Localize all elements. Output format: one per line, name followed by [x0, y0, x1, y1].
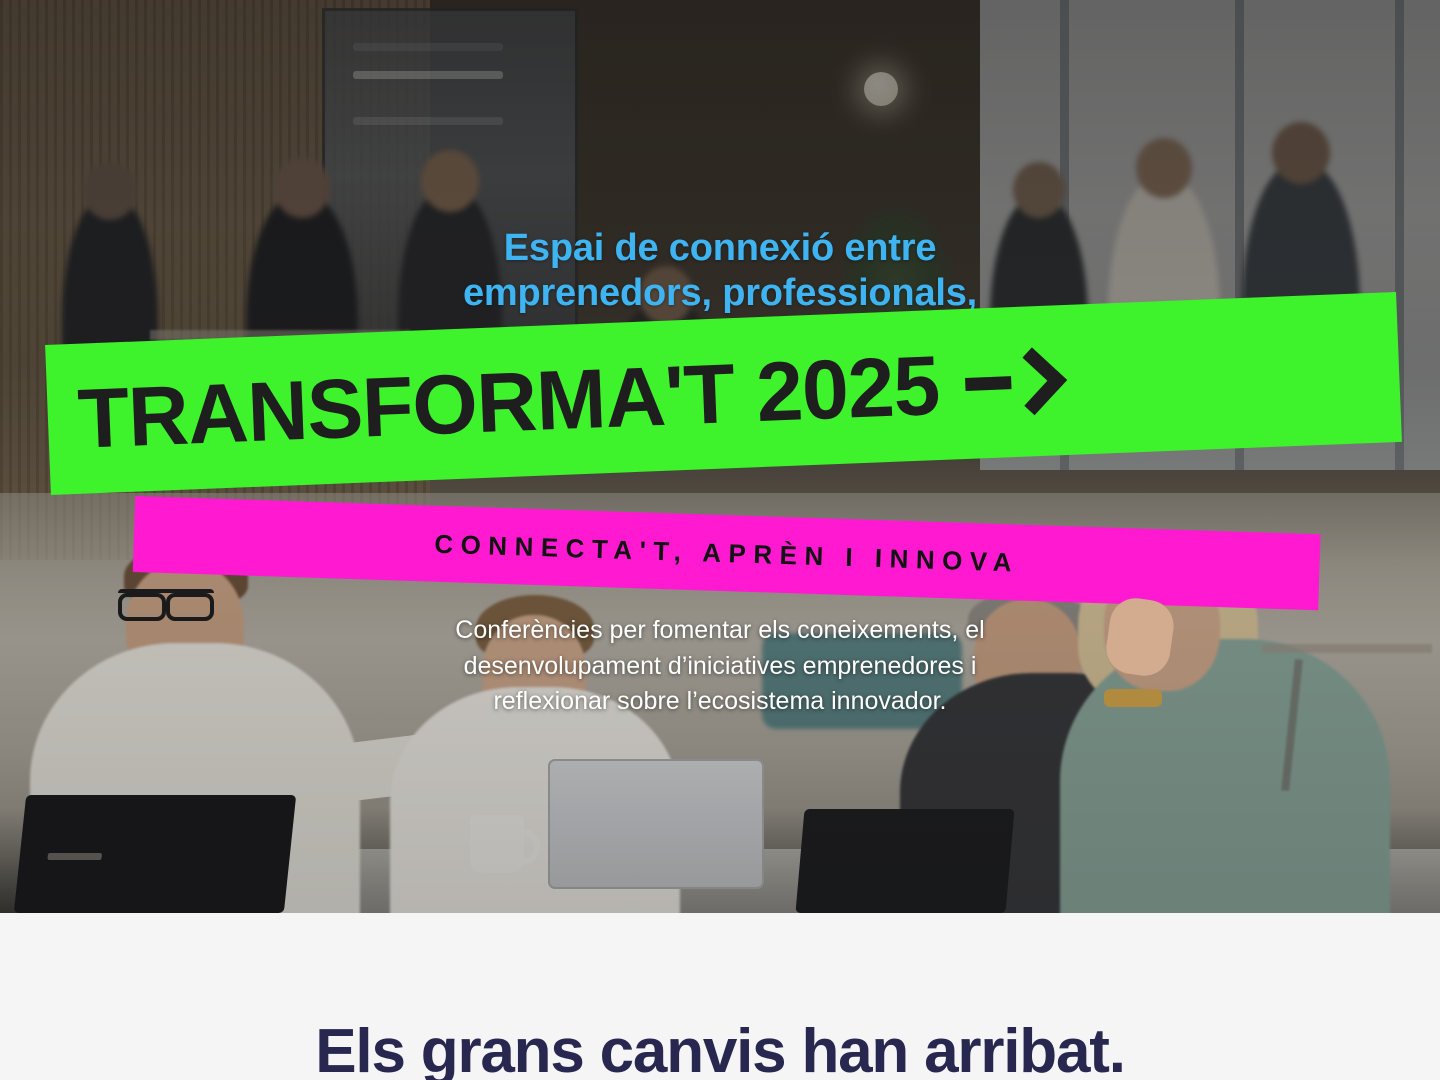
hero-description: Conferències per fomentar els coneixemen…: [0, 613, 1440, 720]
hero-title-banner-inner: TRANSFORMA'T 2025: [46, 318, 1401, 468]
arrow-right-icon: [964, 356, 1058, 408]
landing-page: Espai de connexió entre emprenedors, pro…: [0, 0, 1440, 1080]
hero-section: Espai de connexió entre emprenedors, pro…: [0, 0, 1440, 913]
section-title: Els grans canvis han arribat.: [0, 1016, 1440, 1080]
changes-section: Els grans canvis han arribat.: [0, 913, 1440, 1080]
hero-title-text: TRANSFORMA'T 2025: [76, 337, 941, 468]
wristwatch: [1104, 689, 1162, 707]
hero-subtitle-text: CONNECTA'T, APRÈN I INNOVA: [434, 528, 1020, 578]
